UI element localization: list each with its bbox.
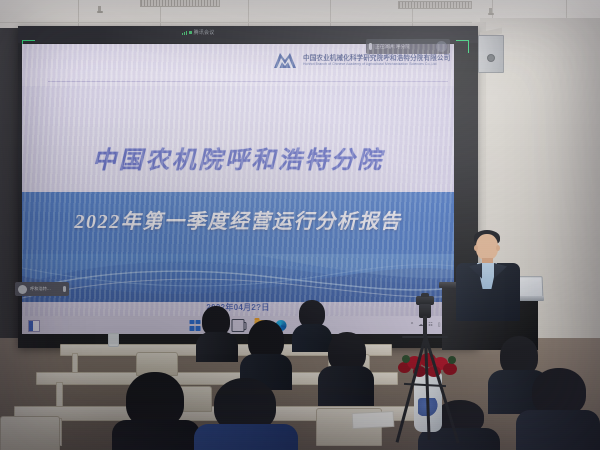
chair-back [0, 416, 60, 450]
sprinkler-head-icon [489, 8, 492, 14]
slide-company-name-en: Hohhot Branch of Chinese Academy of Agri… [303, 62, 437, 66]
presenter-ear [474, 245, 478, 251]
shared-slide[interactable]: 中国农业机械化科学研究院呼和浩特分院有限公司 Hohhot Branch of … [22, 44, 454, 316]
presentation-pane-icon[interactable] [28, 320, 40, 332]
handout-paper [352, 411, 395, 429]
conference-room-scene: 腾讯会议 中国农业机械化科学研究院呼和浩特分院有限公司 Hohhot Branc… [0, 0, 600, 450]
hvac-vent-icon [398, 1, 472, 9]
audience-member [196, 306, 238, 356]
wall-mounted-speaker-icon [478, 30, 504, 74]
nimsa-mountain-logo-icon [272, 51, 298, 70]
microphone-icon [369, 43, 372, 50]
presenter [452, 228, 524, 320]
camera-tripod-icon [394, 296, 456, 448]
participant-name-label: 呼和浩特… [30, 286, 51, 292]
participant-avatar-icon [436, 41, 447, 52]
sprinkler-head-icon [98, 6, 101, 12]
audience-member [240, 320, 292, 382]
tripod-leg [396, 336, 427, 443]
hvac-vent-icon [140, 0, 220, 7]
audience-member [112, 372, 200, 450]
share-corner-marker-top-right [456, 40, 469, 53]
audience-member [194, 378, 298, 450]
meeting-app-title: 腾讯会议 [182, 29, 214, 36]
presenter-head [476, 234, 498, 260]
slide-branch-name: 中国农机院呼和浩特分院 [22, 140, 454, 175]
speaking-now-chip[interactable]: 正在演讲: 呼分院 [366, 39, 450, 54]
slide-wave-graphic [22, 254, 454, 306]
speaking-now-label: 正在演讲: 呼分院 [375, 44, 410, 50]
slide-title-band: 2022年第一季度经营运行分析报告 [22, 192, 454, 254]
presenter-ear [496, 245, 500, 251]
slide-main-title: 2022年第一季度经营运行分析报告 [22, 205, 454, 234]
meeting-app-name: 腾讯会议 [194, 29, 215, 36]
audience-member [318, 332, 374, 400]
audience-member [516, 368, 600, 450]
signal-bars-icon [182, 30, 187, 35]
microphone-icon [63, 286, 66, 292]
participant-thumbnail-chip[interactable]: 呼和浩特… [15, 282, 69, 296]
slide-header-divider [48, 81, 448, 82]
status-dot-icon [189, 31, 192, 34]
water-cup-icon [108, 333, 119, 347]
participant-avatar-icon [18, 285, 27, 294]
slide-date: 2022年04月2?日 [22, 302, 454, 313]
